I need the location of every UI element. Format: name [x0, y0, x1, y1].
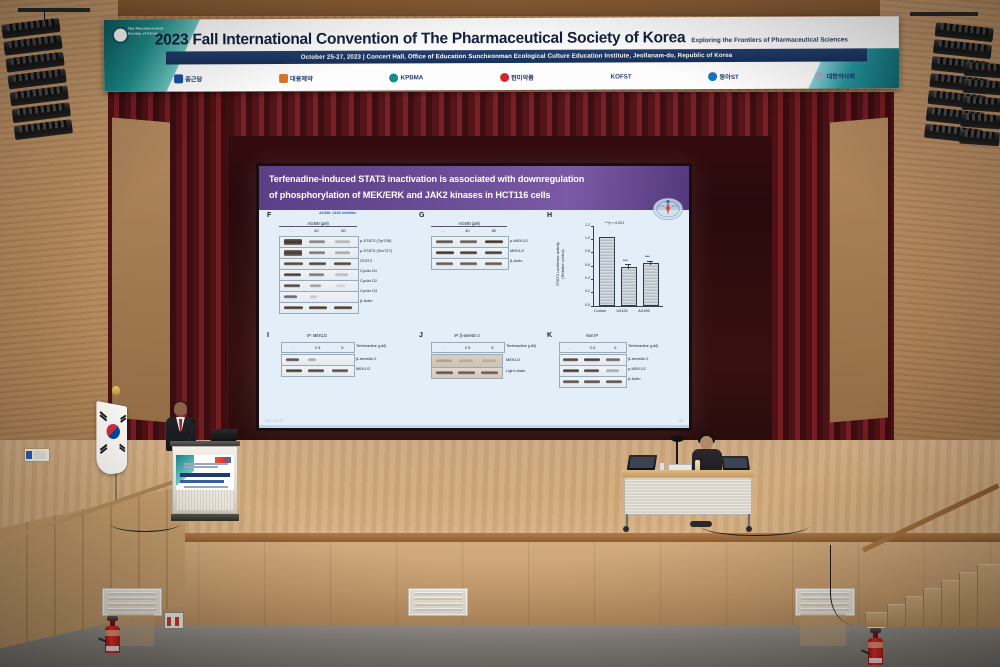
panel-I-treatment: Terfenadine (µM)	[356, 343, 386, 348]
panel-I-ip-label: IP: MEK1/2	[281, 333, 353, 338]
fire-hydrant-sign-left	[164, 612, 184, 629]
dose-value: 5	[614, 343, 616, 352]
panel-J-treatment: Terfenadine (µM)	[506, 343, 536, 348]
line-array-speaker-far-right	[959, 59, 1000, 148]
air-vent-center	[408, 588, 468, 616]
fire-extinguisher-right	[868, 625, 883, 665]
sponsor-logo: 동아ST	[708, 71, 738, 80]
panel-K-blots	[559, 354, 627, 388]
inner-side-wall-left	[112, 117, 170, 422]
blot-row	[280, 281, 358, 292]
blot-row	[432, 259, 508, 269]
slide-title-line2: of phosphorylation of MEK/ERK and JAK2 k…	[269, 187, 681, 203]
panel-label-G: G	[419, 212, 424, 219]
blot-row	[431, 354, 503, 368]
blot-row-label: p-STAT3 (Ser727)	[360, 246, 392, 256]
sponsor-name: 종근당	[185, 74, 202, 83]
accessibility-sign	[24, 448, 50, 462]
blot-row	[560, 377, 626, 387]
podium-sign-bar-secondary	[180, 480, 224, 483]
blot-row-label: MEK1/2	[356, 364, 376, 374]
auditorium-photo: The Pharmaceutical Society of Korea 2023…	[0, 0, 1000, 667]
table-surface	[622, 470, 754, 477]
operator-head	[700, 436, 713, 450]
table-modesty-panel	[624, 477, 752, 515]
chart-ytick: 1.0	[577, 236, 590, 240]
event-banner: The Pharmaceutical Society of Korea 2023…	[104, 16, 899, 91]
panel-label-J: J	[419, 332, 423, 339]
taeguk-symbol-icon	[106, 423, 119, 439]
panel-label-I: I	[267, 332, 269, 339]
blot-row	[282, 355, 354, 366]
slide-body: F AG490: JAK2 inhibitor AG490 (µM) - 40 …	[259, 210, 689, 425]
podium	[172, 441, 238, 522]
blot-row-label: β-arrestin 2	[356, 354, 376, 364]
chart-bar-u0126	[621, 267, 637, 306]
speaker-truss-left	[18, 8, 90, 12]
panel-G-treatment: AG490 (µM)	[431, 221, 507, 227]
panel-G-row-labels: p-MEK1/2 MEK1/2 β-Actin	[510, 236, 528, 266]
panel-label-F: F	[267, 212, 271, 219]
slide-title-line1: Terfenadine-induced STAT3 inactivation i…	[269, 171, 681, 187]
podium-sign-bar	[180, 473, 230, 477]
dose-value: 80	[341, 228, 345, 233]
stage-access-ramp	[0, 455, 200, 630]
blot-row-label: p-MEK1/2	[510, 236, 528, 246]
dose-value: 80	[492, 228, 496, 233]
chart-x-axis	[593, 306, 663, 307]
slide-page-number: 92	[679, 419, 683, 423]
banner-title-row: 2023 Fall International Convention of Th…	[104, 28, 899, 49]
projection-screen: Terfenadine-induced STAT3 inactivation i…	[259, 166, 689, 428]
chart-ytick: 0.4	[577, 276, 590, 280]
sponsor-logo: KOFST	[611, 73, 632, 80]
sponsor-logo: 종근당	[174, 74, 202, 83]
blot-row-label: β-Actin	[628, 374, 648, 384]
sponsor-name: KPBMA	[401, 74, 424, 81]
dose-value: 2.5	[590, 343, 596, 352]
blot-row-label: β-Actin	[360, 296, 392, 306]
chart-ytick: 0.0	[577, 303, 590, 307]
chart-bar-control	[599, 237, 615, 306]
blot-row-label: MEK1/2	[506, 354, 525, 366]
panel-K-ip-label: Non IP	[559, 333, 625, 338]
slide-footer-date: 2023-10-27	[265, 419, 283, 423]
chart-significance-annotation: ***p < 0.001	[605, 221, 624, 225]
podium-signage	[176, 455, 234, 491]
chart-significance-ag490: ***	[645, 254, 650, 259]
sponsor-name: 대웅제약	[290, 73, 313, 82]
panel-G-doses: - 40 80	[431, 228, 507, 233]
blot-row	[280, 292, 358, 303]
dose-value: 40	[314, 228, 318, 233]
dose-value: -	[442, 343, 443, 352]
blot-row	[280, 259, 358, 270]
panel-F-row-labels: p-STAT3 (Tyr705) p-STAT3 (Ser727) STAT3 …	[360, 236, 392, 306]
sponsor-logo-row: 종근당 대웅제약 KPBMA 한미약품 KOFST 동아ST 대한약사회	[174, 65, 855, 88]
blot-row-label: Light chain	[506, 366, 525, 376]
blot-row	[280, 303, 358, 313]
blot-row-label: β-arrestin 2	[628, 354, 648, 364]
table-cup	[660, 463, 664, 470]
dose-value: 2.5	[465, 343, 471, 352]
operator-laptop-left	[628, 455, 660, 471]
table-floor-cable	[700, 515, 810, 536]
sponsor-name: 한미약품	[511, 72, 534, 81]
house-stairs	[865, 556, 1000, 626]
sponsor-name: 대한약사회	[827, 71, 856, 80]
flag-finial	[112, 386, 120, 395]
dose-value: -	[569, 343, 570, 352]
blot-row-label: p-MEK1/2	[628, 364, 648, 374]
blot-row	[282, 366, 354, 376]
dose-value: -	[292, 343, 293, 352]
panel-J-row-labels: MEK1/2 Light chain	[506, 354, 525, 376]
chart-ytick: 1.2	[577, 223, 590, 227]
banner-title: 2023 Fall International Convention of Th…	[155, 29, 685, 48]
blot-row	[280, 270, 358, 281]
dose-value: 2.5	[315, 343, 321, 352]
blot-row-label: β-Actin	[510, 256, 528, 266]
chart-significance-u0126: ***	[623, 258, 628, 263]
dose-value: 5	[491, 343, 493, 352]
panel-J-dose-header: - 2.5 5	[431, 342, 505, 353]
chart-bar-ag490	[643, 263, 659, 306]
panel-F-blots	[279, 236, 359, 314]
chart-xtick-u0126: U0126	[610, 309, 634, 313]
fire-extinguisher-left	[105, 613, 120, 653]
panel-I-row-labels: β-arrestin 2 MEK1/2	[356, 354, 376, 374]
inner-side-wall-right	[830, 117, 888, 422]
chart-ytick: 0.6	[577, 263, 590, 267]
blot-row-label: Cyclin D3	[360, 286, 392, 296]
blot-row	[432, 248, 508, 259]
speaker-truss-right	[910, 12, 978, 16]
panel-G-blots	[431, 236, 509, 270]
panel-K-row-labels: β-arrestin 2 p-MEK1/2 β-Actin	[628, 354, 648, 384]
chart-ytick: 0.8	[577, 249, 590, 253]
panel-label-H: H	[547, 212, 552, 219]
chart-ytick: 0.2	[577, 289, 590, 293]
ceiling-soffit	[0, 0, 1000, 16]
blot-row-label: STAT3	[360, 256, 392, 266]
dose-value: 40	[465, 228, 469, 233]
chart-xtick-ag490: AG490	[632, 309, 656, 313]
chart-ylabel-line2: (Relative control)	[560, 222, 565, 306]
panel-I-dose-header: - 2.5 5	[281, 342, 355, 353]
panel-K-dose-header: - 2.5 5	[559, 342, 627, 353]
banner-details: October 25-27, 2023 | Concert Hall, Offi…	[166, 48, 867, 64]
banner-subtitle: Exploring the Frontiers of Pharmaceutica…	[685, 36, 848, 44]
operator-laptop-right	[722, 456, 752, 471]
sponsor-logo: 대웅제약	[279, 73, 313, 82]
blot-row	[560, 355, 626, 366]
panel-label-K: K	[547, 332, 552, 339]
projection-screen-frame: Terfenadine-induced STAT3 inactivation i…	[256, 163, 692, 431]
panel-F-note: AG490: JAK2 inhibitor	[319, 211, 356, 215]
dose-value: -	[290, 228, 291, 233]
podium-floor-cable	[110, 515, 180, 532]
blot-row-label: Cyclin D2	[360, 276, 392, 286]
dose-value: 5	[341, 343, 343, 352]
podium-base	[171, 514, 239, 521]
panel-K-treatment: Terfenadine (µM)	[628, 343, 658, 348]
panel-J-ip-label: IP: β-arrestin 2	[431, 333, 503, 338]
sponsor-logo: 대한약사회	[816, 71, 856, 80]
podium-body	[172, 446, 238, 514]
blot-row	[560, 366, 626, 377]
blot-row	[280, 248, 358, 259]
slide-title-bar: Terfenadine-induced STAT3 inactivation i…	[259, 166, 689, 210]
banner-detail-bar: October 25-27, 2023 | Concert Hall, Offi…	[166, 48, 867, 64]
blot-row-label: Cyclin D1	[360, 266, 392, 276]
panel-F-doses: - 40 80	[279, 228, 357, 233]
dose-value: -	[442, 228, 443, 233]
blot-row	[432, 237, 508, 248]
blot-row-label: MEK1/2	[510, 246, 528, 256]
blot-row	[431, 368, 503, 379]
panel-J-blots	[431, 354, 503, 379]
podium-mesh-panel	[176, 490, 234, 510]
air-vent-left	[102, 588, 162, 616]
blot-row-label: p-STAT3 (Tyr705)	[360, 236, 392, 246]
panel-F-treatment: AG490 (µM)	[279, 221, 357, 227]
panel-I-blots	[281, 354, 355, 377]
sponsor-logo: 한미약품	[500, 72, 534, 81]
stat3-luciferase-bar-chart: STAT3 Luciferase activity (Relative cont…	[577, 220, 665, 318]
slide-panel-H: H STAT3 Luciferase activity (Relative co…	[547, 212, 673, 330]
sponsor-name: 동아ST	[719, 71, 738, 80]
sponsor-logo: KPBMA	[390, 73, 424, 82]
sponsor-name: KOFST	[611, 73, 632, 80]
blot-row	[280, 237, 358, 248]
